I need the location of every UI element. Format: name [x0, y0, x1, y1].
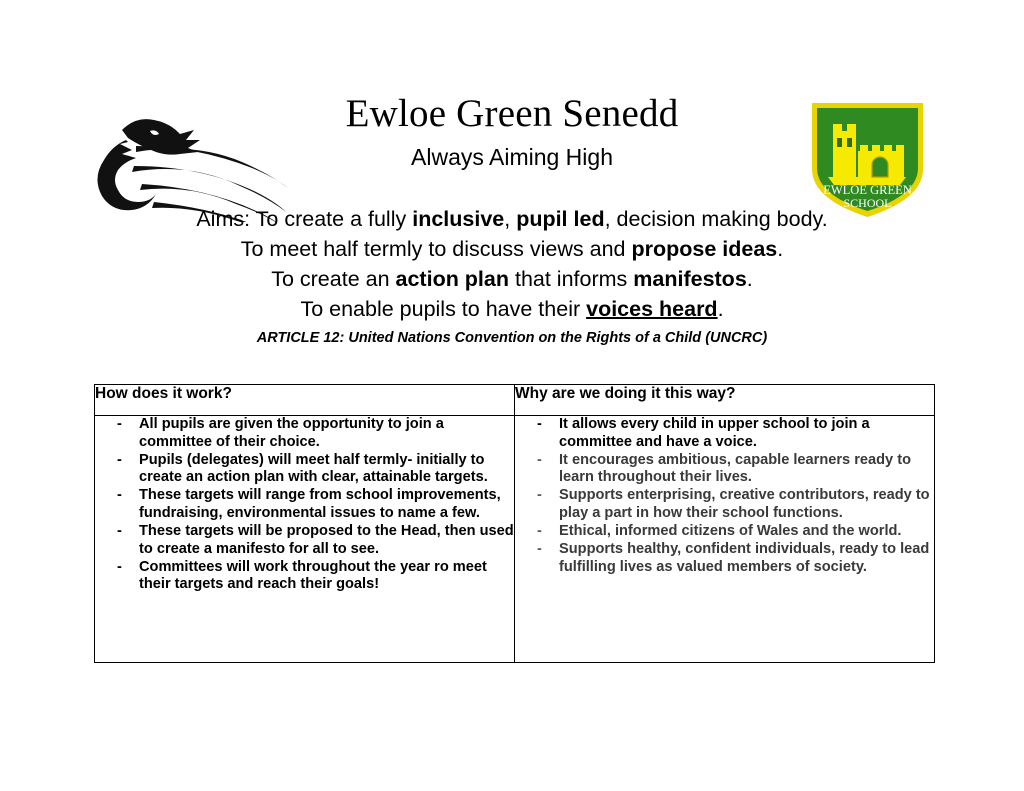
aim1-part1: Aims: To create a fully: [196, 207, 412, 231]
header-band: Ewloe Green Senedd Always Aiming High: [0, 0, 1024, 230]
aim2-part2: .: [777, 237, 783, 261]
school-badge-logo: EWLOE GREEN SCHOOL: [800, 97, 935, 221]
how-bullet-list: -All pupils are given the opportunity to…: [95, 416, 514, 594]
table-cell-why: -It allows every child in upper school t…: [515, 416, 935, 663]
uncrc-article-line: ARTICLE 12: United Nations Convention on…: [62, 328, 962, 348]
list-item: -These targets will be proposed to the H…: [117, 523, 514, 558]
aim-line-2: To meet half termly to discuss views and…: [62, 234, 962, 264]
table-header-row: How does it work? Why are we doing it th…: [95, 385, 935, 416]
list-item: -All pupils are given the opportunity to…: [117, 416, 514, 451]
table-body-row: -All pupils are given the opportunity to…: [95, 416, 935, 663]
page-subtitle: Always Aiming High: [262, 144, 762, 171]
list-item: -Supports healthy, confident individuals…: [537, 541, 934, 576]
title-block: Ewloe Green Senedd Always Aiming High: [262, 92, 762, 171]
list-item-text: All pupils are given the opportunity to …: [139, 416, 444, 450]
list-item-text: It encourages ambitious, capable learner…: [559, 452, 911, 486]
list-item-text: These targets will range from school imp…: [139, 487, 501, 521]
aim1-part3: , decision making body.: [605, 207, 828, 231]
aim3-part3: .: [747, 267, 753, 291]
bullet-dash: -: [117, 452, 122, 470]
list-item-text: Supports healthy, confident individuals,…: [559, 541, 929, 575]
info-table: How does it work? Why are we doing it th…: [94, 384, 935, 663]
badge-line-1: EWLOE GREEN: [823, 183, 912, 197]
list-item: -Ethical, informed citizens of Wales and…: [537, 523, 934, 541]
bullet-dash: -: [537, 452, 542, 470]
aim4-part1: To enable pupils to have their: [300, 297, 586, 321]
bullet-dash: -: [537, 487, 542, 505]
list-item: -These targets will range from school im…: [117, 487, 514, 522]
aim1-bold2: pupil led: [516, 207, 604, 231]
bullet-dash: -: [117, 523, 122, 541]
bullet-dash: -: [117, 416, 122, 434]
list-item-text: These targets will be proposed to the He…: [139, 523, 514, 557]
aim1-bold1: inclusive: [412, 207, 504, 231]
page-title: Ewloe Green Senedd: [262, 92, 762, 136]
aim1-part2: ,: [504, 207, 516, 231]
list-item: -It encourages ambitious, capable learne…: [537, 452, 934, 487]
table-cell-how: -All pupils are given the opportunity to…: [95, 416, 515, 663]
aim-line-1: Aims: To create a fully inclusive, pupil…: [62, 204, 962, 234]
aim3-part1: To create an: [271, 267, 395, 291]
list-item-text: Committees will work throughout the year…: [139, 559, 487, 593]
table-header-why: Why are we doing it this way?: [515, 385, 935, 416]
aim2-part1: To meet half termly to discuss views and: [241, 237, 632, 261]
aim-line-3: To create an action plan that informs ma…: [62, 264, 962, 294]
list-item: -It allows every child in upper school t…: [537, 416, 934, 451]
bullet-dash: -: [117, 559, 122, 577]
list-item-text: Pupils (delegates) will meet half termly…: [139, 452, 488, 486]
list-item-text: Supports enterprising, creative contribu…: [559, 487, 930, 521]
bullet-dash: -: [537, 416, 542, 434]
aim3-bold1: action plan: [396, 267, 509, 291]
aim4-part2: .: [718, 297, 724, 321]
bullet-dash: -: [537, 523, 542, 541]
aim4-underline1: voices heard: [586, 297, 717, 321]
list-item: -Committees will work throughout the yea…: [117, 559, 514, 594]
aims-block: Aims: To create a fully inclusive, pupil…: [62, 204, 962, 348]
table-header-how: How does it work?: [95, 385, 515, 416]
list-item-text: It allows every child in upper school to…: [559, 416, 870, 450]
bullet-dash: -: [537, 541, 542, 559]
aim3-part2: that informs: [509, 267, 633, 291]
aim-line-4: To enable pupils to have their voices he…: [62, 294, 962, 324]
list-item: -Pupils (delegates) will meet half terml…: [117, 452, 514, 487]
list-item: -Supports enterprising, creative contrib…: [537, 487, 934, 522]
aim2-bold1: propose ideas: [632, 237, 778, 261]
why-bullet-list: -It allows every child in upper school t…: [515, 416, 934, 576]
bullet-dash: -: [117, 487, 122, 505]
aim3-bold2: manifestos: [633, 267, 747, 291]
list-item-text: Ethical, informed citizens of Wales and …: [559, 523, 901, 539]
